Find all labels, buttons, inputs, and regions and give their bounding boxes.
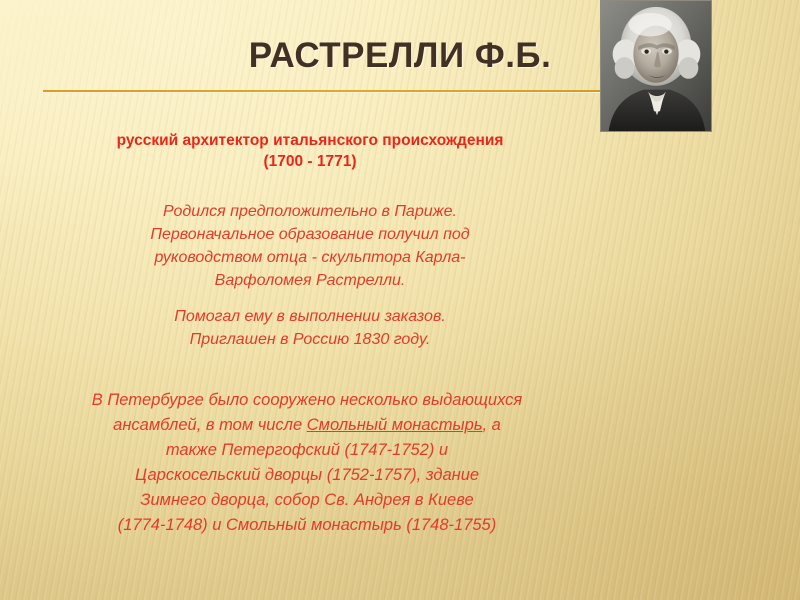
paragraph3-line-4: Царскосельский дворцы (1752-1757), здани… <box>34 463 580 488</box>
paragraph1-line-2: Первоначальное образование получил под <box>60 223 560 246</box>
paragraph2-line-1: Помогал ему в выполнении заказов. <box>60 305 560 328</box>
paragraph1-line-3: руководством отца - скульптора Карла- <box>60 246 560 269</box>
subtitle-line-2: (1700 - 1771) <box>0 151 620 172</box>
biography-paragraph-1: Родился предположительно в Париже. Перво… <box>60 200 560 292</box>
smolny-monastery-link[interactable]: Смольный монастырь <box>307 416 483 434</box>
subtitle-line-1: русский архитектор итальянского происхож… <box>0 130 620 151</box>
paragraph3-line-5: Зимнего дворца, собор Св. Андрея в Киеве <box>34 488 580 513</box>
paragraph3-line-2-before: ансамблей, в том числе <box>113 416 307 434</box>
biography-paragraph-2: Помогал ему в выполнении заказов. Пригла… <box>60 305 560 351</box>
portrait-image <box>600 0 712 132</box>
paragraph3-line-3: также Петергофский (1747-1752) и <box>34 438 580 463</box>
paragraph1-line-4: Варфоломея Растрелли. <box>60 269 560 292</box>
presentation-slide: РАСТРЕЛЛИ Ф.Б. <box>0 0 800 600</box>
paragraph3-line-2: ансамблей, в том числе Смольный монастыр… <box>34 413 580 438</box>
paragraph2-line-2: Приглашен в Россию 1830 году. <box>60 328 560 351</box>
biography-paragraph-3: В Петербурге было сооружено несколько вы… <box>34 388 580 538</box>
paragraph3-line-1: В Петербурге было сооружено несколько вы… <box>34 388 580 413</box>
paragraph1-line-1: Родился предположительно в Париже. <box>60 200 560 223</box>
slide-subtitle: русский архитектор итальянского происхож… <box>0 130 620 172</box>
paragraph3-line-2-after: , а <box>483 416 501 434</box>
paragraph3-line-6: (1774-1748) и Смольный монастырь (1748-1… <box>34 513 580 538</box>
title-divider-rule <box>43 90 600 92</box>
